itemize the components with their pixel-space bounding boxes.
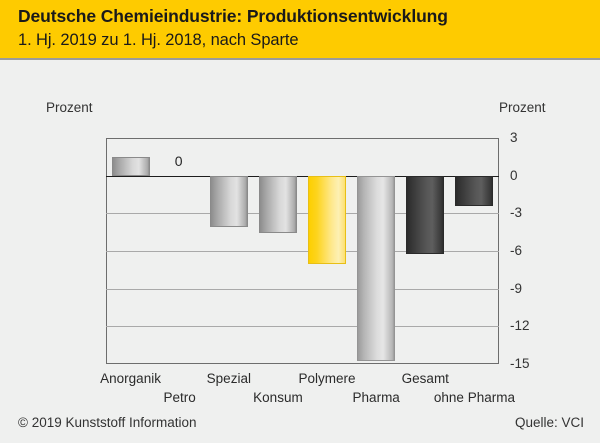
x-axis-label-spezial: Spezial (179, 372, 279, 386)
x-axis-label-polymere: Polymere (277, 372, 377, 386)
x-axis-label-petro: Petro (130, 391, 230, 405)
bar-anorganik (112, 157, 150, 176)
x-axis-label-ohne-pharma: ohne Pharma (424, 391, 524, 405)
y-tick-label-right: 0 (510, 169, 518, 183)
y-tick-label-right: -15 (510, 357, 530, 371)
bar-ohne-pharma (455, 176, 493, 206)
page-title: Deutsche Chemieindustrie: Produktionsent… (18, 6, 448, 27)
bar-pharma (357, 176, 395, 362)
page-subtitle: 1. Hj. 2019 zu 1. Hj. 2018, nach Sparte (18, 31, 298, 50)
y-tick-label-right: -12 (510, 319, 530, 333)
x-axis-label-anorganik: Anorganik (81, 372, 181, 386)
header-band: Deutsche Chemieindustrie: Produktionsent… (0, 0, 600, 60)
x-axis-label-gesamt: Gesamt (375, 372, 475, 386)
footer-source: Quelle: VCI (515, 415, 584, 430)
bar-gesamt (406, 176, 444, 254)
y-tick-label-right: -9 (510, 282, 522, 296)
gridline (106, 289, 499, 290)
x-axis-label-konsum: Konsum (228, 391, 328, 405)
y-tick-label-right: 3 (510, 131, 518, 145)
y-axis-unit-left: Prozent (46, 100, 93, 115)
y-axis-unit-right: Prozent (499, 100, 546, 115)
bar-polymere (308, 176, 346, 264)
y-tick-label-right: -6 (510, 244, 522, 258)
gridline (106, 326, 499, 327)
footer-copyright: © 2019 Kunststoff Information (18, 415, 197, 430)
x-axis-label-pharma: Pharma (326, 391, 426, 405)
bar-spezial (210, 176, 248, 227)
bar-konsum (259, 176, 297, 234)
y-tick-label-right: -3 (510, 206, 522, 220)
chart-plot-area: 0 3300-3-3-6-6-9-9-12-12-15-15 (106, 138, 499, 364)
bar-value-label: 0 (175, 154, 183, 168)
